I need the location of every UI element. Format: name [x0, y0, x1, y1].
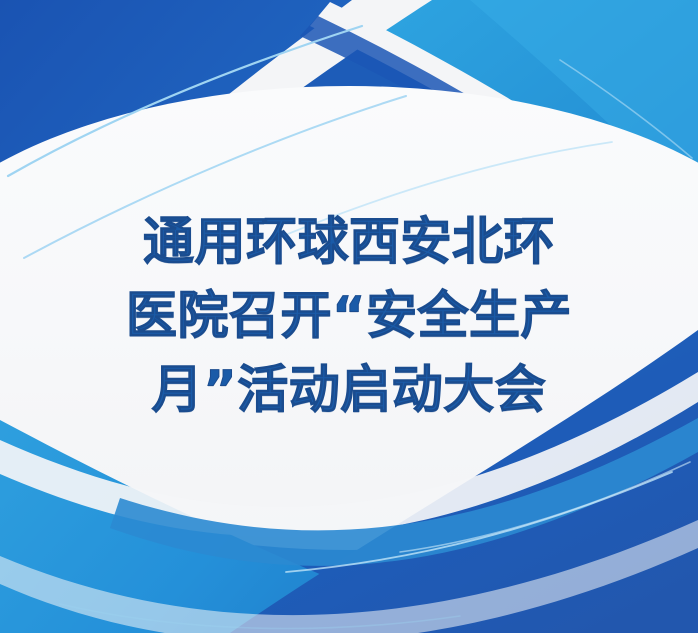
background-decoration — [0, 0, 698, 633]
poster-canvas: 通用环球西安北环 医院召开“安全生产 月”活动启动大会 — [0, 0, 698, 633]
